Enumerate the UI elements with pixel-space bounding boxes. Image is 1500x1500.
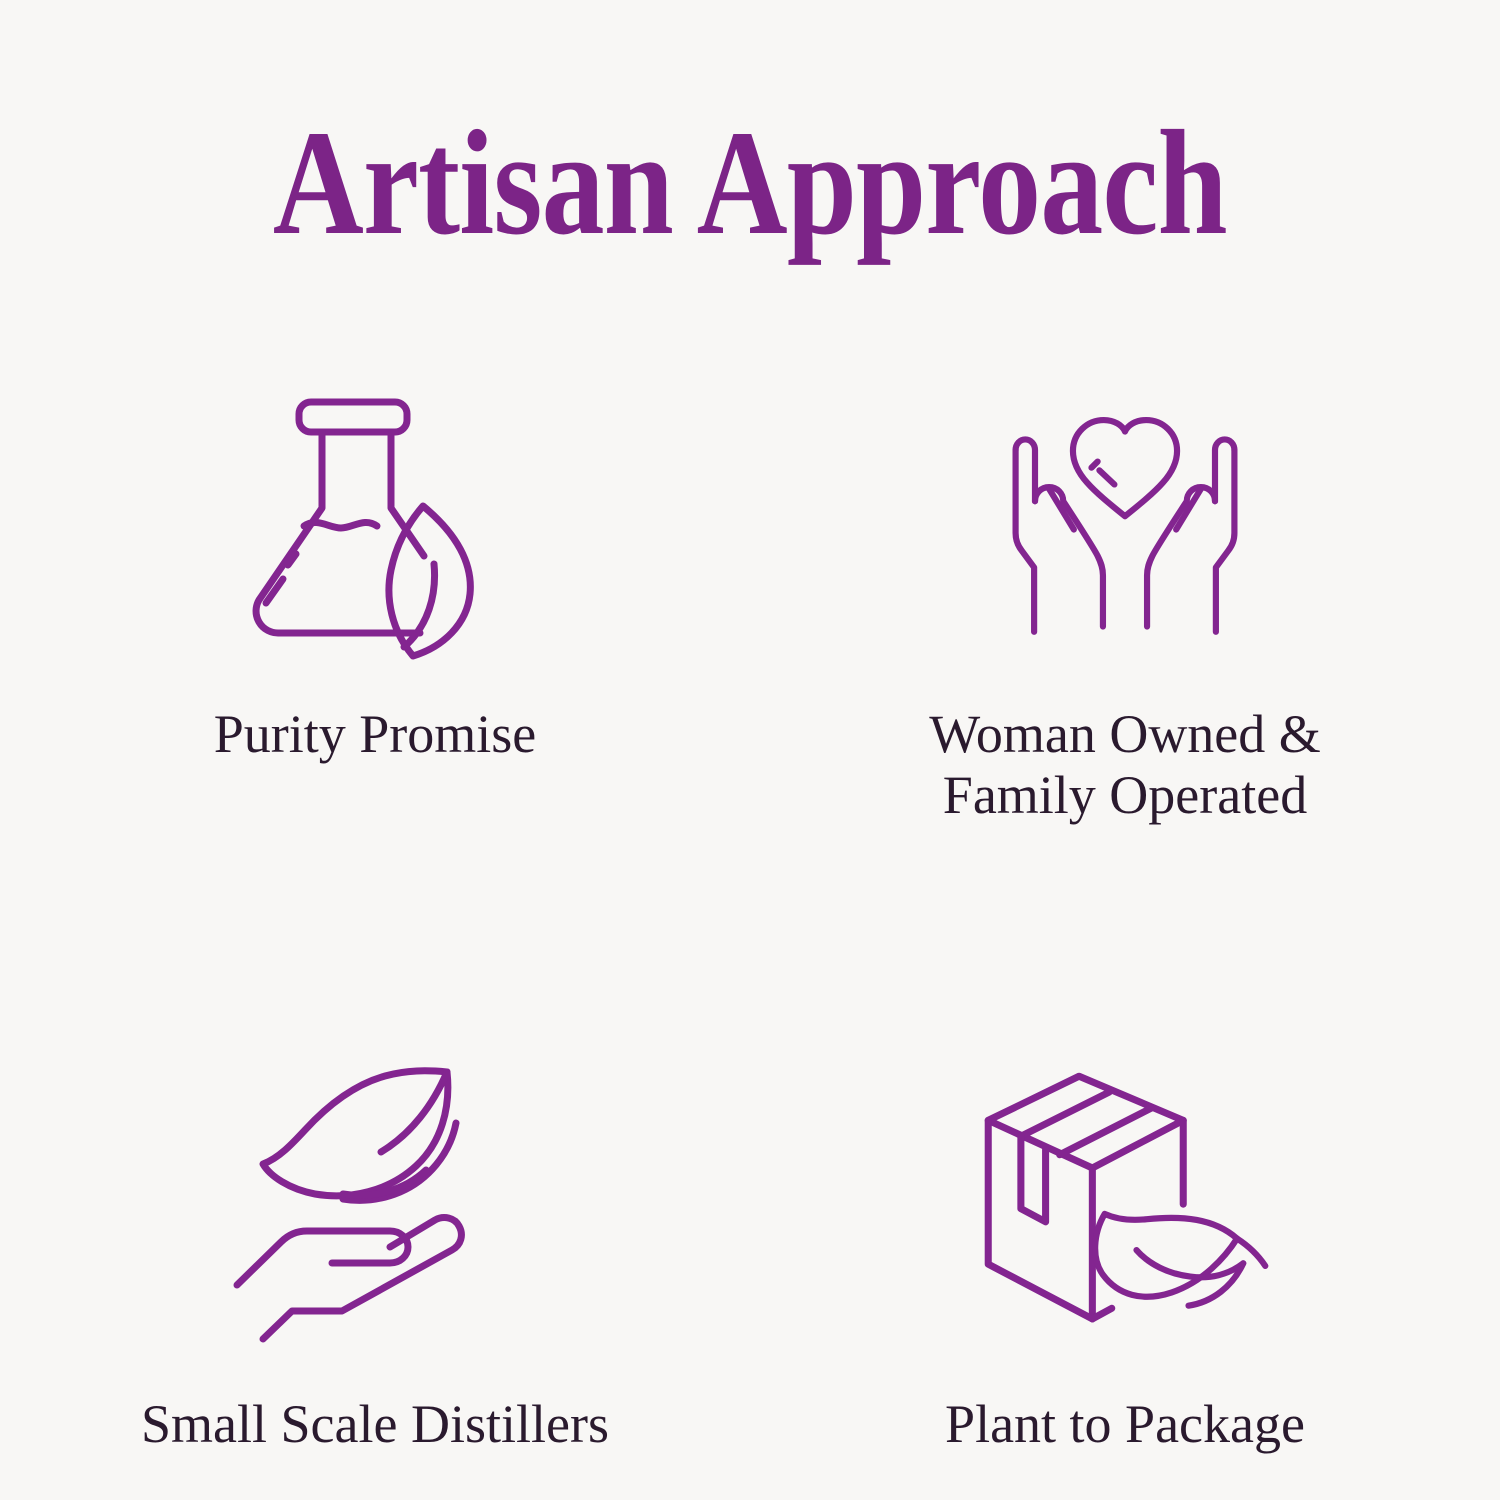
hands-heart-icon [975,368,1275,668]
feature-item-purity-promise: Purity Promise [0,350,750,826]
page-title: Artisan Approach [273,108,1227,258]
feature-item-woman-owned: Woman Owned & Family Operated [750,350,1500,826]
feature-item-plant-to-package: Plant to Package [750,826,1500,1455]
feature-label: Purity Promise [214,704,537,765]
artisan-approach-infographic: Artisan Approach [0,0,1500,1500]
box-leaf-icon [975,1048,1275,1348]
feature-item-small-scale-distillers: Small Scale Distillers [0,826,750,1455]
feature-grid: Purity Promise [0,350,1500,1430]
feature-label: Plant to Package [945,1394,1305,1455]
feature-label: Woman Owned & Family Operated [929,704,1321,826]
leaf-in-hand-icon [225,1048,525,1348]
flask-leaf-icon [225,368,525,668]
page-title-container: Artisan Approach [0,108,1500,258]
feature-label: Small Scale Distillers [141,1394,609,1455]
